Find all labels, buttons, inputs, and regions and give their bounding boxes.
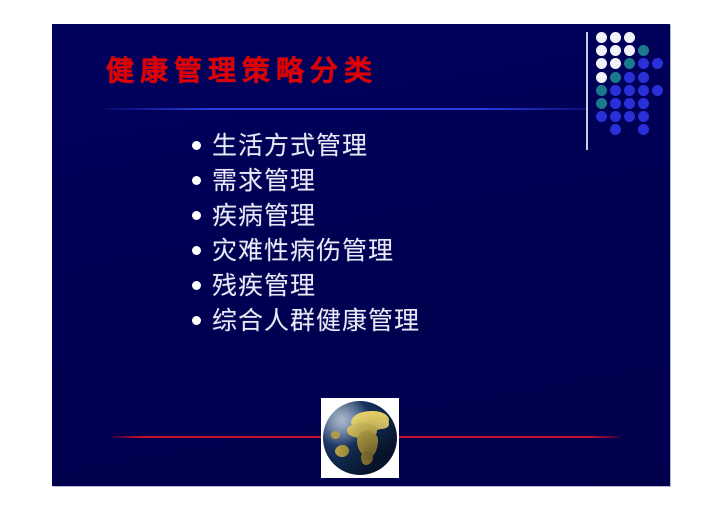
bullet-dot-icon: [192, 211, 201, 220]
grid-dot: [596, 32, 607, 43]
grid-dot: [596, 45, 607, 56]
grid-dot: [624, 72, 635, 83]
list-item: 疾病管理: [192, 198, 632, 233]
list-item-label: 疾病管理: [212, 201, 316, 231]
slide-canvas: 健康管理策略分类 生活方式管理 需求管理 疾病管理 灾难性病伤管理: [52, 24, 670, 486]
grid-dot: [624, 98, 635, 109]
grid-dot: [610, 98, 621, 109]
grid-dot: [638, 124, 649, 135]
grid-dot: [596, 111, 607, 122]
grid-dot: [624, 58, 635, 69]
grid-dot: [652, 85, 663, 96]
grid-dot: [596, 85, 607, 96]
list-item-label: 需求管理: [212, 166, 316, 196]
list-item: 综合人群健康管理: [192, 303, 632, 338]
list-item: 残疾管理: [192, 268, 632, 303]
grid-dot: [638, 111, 649, 122]
globe-image: [321, 398, 399, 478]
bullet-dot-icon: [192, 176, 201, 185]
grid-dot: [638, 45, 649, 56]
grid-dot: [610, 85, 621, 96]
grid-dot: [624, 45, 635, 56]
list-item-label: 残疾管理: [212, 271, 316, 301]
grid-dot: [610, 58, 621, 69]
list-item-label: 生活方式管理: [212, 131, 368, 161]
grid-dot: [610, 111, 621, 122]
bullet-dot-icon: [192, 141, 201, 150]
grid-dot: [652, 58, 663, 69]
list-item: 生活方式管理: [192, 128, 632, 163]
grid-dot: [596, 72, 607, 83]
grid-dot: [624, 32, 635, 43]
grid-dot: [610, 45, 621, 56]
grid-dot: [624, 85, 635, 96]
globe-sphere-icon: [323, 401, 397, 475]
grid-dot: [596, 58, 607, 69]
list-item-label: 综合人群健康管理: [212, 306, 420, 336]
page-title: 健康管理策略分类: [106, 54, 586, 88]
grid-dot: [596, 98, 607, 109]
title-divider-rule: [105, 108, 587, 110]
grid-dot: [638, 72, 649, 83]
grid-dot: [638, 98, 649, 109]
bullet-dot-icon: [192, 246, 201, 255]
list-item-label: 灾难性病伤管理: [212, 236, 394, 266]
bullet-dot-icon: [192, 281, 201, 290]
list-item: 需求管理: [192, 163, 632, 198]
bullet-list: 生活方式管理 需求管理 疾病管理 灾难性病伤管理 残疾管理 综合人群健康管理: [192, 128, 632, 338]
globe-shading: [323, 401, 397, 475]
grid-dot: [638, 58, 649, 69]
list-item: 灾难性病伤管理: [192, 233, 632, 268]
dot-grid-decoration: [596, 32, 670, 138]
slide-page: 健康管理策略分类 生活方式管理 需求管理 疾病管理 灾难性病伤管理: [0, 0, 720, 509]
grid-dot: [638, 85, 649, 96]
bullet-dot-icon: [192, 316, 201, 325]
grid-dot: [610, 72, 621, 83]
grid-dot: [624, 111, 635, 122]
grid-dot: [610, 32, 621, 43]
